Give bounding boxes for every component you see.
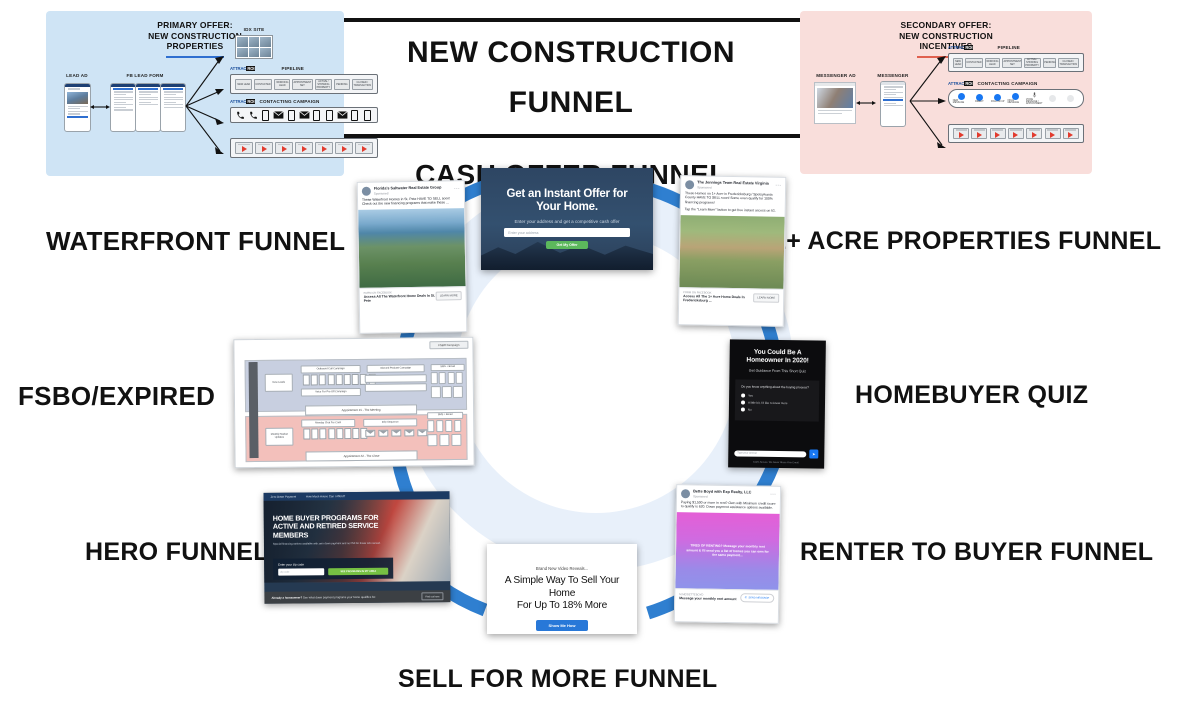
quiz-question-card: Do you know anything about the buying pr… [735,379,820,421]
primary-lead-ad-group: LEAD AD [55,73,99,78]
sms-step [362,110,373,120]
envelope-icon [299,111,310,119]
sell-headline-line2: For Up To 18% More [517,600,607,611]
pipeline-stage: NEW LEAD [235,79,252,90]
secondary-offer-title-line2: NEW CONSTRUCTION [800,31,1092,42]
hero-cta-button[interactable]: SEE PROGRAMS IN MY AREA [328,568,388,576]
retargeting-video-ad [971,128,987,139]
hero-zip-form: Enter your zip code Zip code SEE PROGRAM… [273,558,393,580]
retargeting-video-ad [1045,128,1061,139]
play-icon [322,146,327,152]
sms-step [286,110,297,120]
renter-ad-image: TIRED OF RENTING? Message your monthly r… [675,512,779,590]
primary-contacting-header: ATTRACROI CONTACTING CAMPAIGN [230,99,378,104]
primary-retargeting-box [230,138,378,158]
fsbo-minigrid-bottom-1 [427,420,461,432]
fsbo-minigrid-top-2 [431,386,463,398]
fb-lead-form-phone-2 [135,83,161,132]
retargeting-video-ad [953,128,969,139]
messenger-step: NEW MESSAGE [953,92,970,105]
call-step [248,110,259,120]
avatar [362,187,371,196]
retargeting-video-ad [255,142,273,154]
attrac-roi-logo-contacting-2: ATTRACROI [948,81,973,86]
mountain-graphic [481,232,653,270]
sell-cta-button[interactable]: Show Me How [536,620,588,631]
hero-footer-bar: Already a homeowner? See what down payme… [264,590,450,604]
pipeline-stage: PENDING [334,79,351,90]
fb-page-identity: Florida's Saltwater Real Estate Group Sp… [374,186,454,196]
secondary-pipeline-header: ATTRACROI PIPELINE [948,45,1084,50]
retargeting-video-ad [1008,128,1024,139]
retargeting-video-ad [295,142,313,154]
cash-offer-subhead: Enter your address and get a competitive… [481,219,653,224]
quiz-subhead: Get Guidance From This Short Quiz [729,368,825,373]
pipeline-stage: ACTIVE / SHOWING PROPERTY [1024,58,1040,68]
banner-rule-top [341,18,801,22]
hero-form-label: Enter your zip code [278,562,388,567]
placeholder-step [1044,92,1061,105]
pipeline-stage: APPOINTMENT SET [1002,58,1023,68]
primary-offer-panel: PRIMARY OFFER: NEW CONSTRUCTION PROPERTI… [46,11,344,176]
card-sell-for-more-landing[interactable]: Brand New Video Reveals... A Simple Way … [487,544,637,634]
fb-page-identity: The Jennings Team Real Estate Virginia S… [697,181,775,191]
sms-step [311,110,322,120]
fb-ad-meta: Sponsored [693,494,770,499]
send-icon[interactable]: ➤ [809,449,818,458]
retargeting-video-ad [990,128,1006,139]
play-icon [977,132,982,138]
fsbo-envelope-row [365,429,427,437]
fb-link-title: Access All The Waterfront Home Deals In … [364,293,436,303]
pipeline-stage: CLOSED / TRANSACTION [1058,58,1079,68]
label-fsbo-expired: FSBO/EXPIRED [18,381,215,412]
pipeline-label-2: PIPELINE [997,45,1020,50]
fsbo-group-drip: Drip Sequence [363,418,417,427]
messenger-icon [976,94,983,101]
fsbo-campaign-tab[interactable]: FSBO Campaign [429,341,468,349]
sell-headline-line1: A Simple Way To Sell Your Home [505,575,619,599]
messenger-phone-mock [880,81,906,127]
card-renter-to-buyer-ad[interactable]: Bette Boyd with Exp Realty, LLC Sponsore… [674,484,781,624]
banner-rule-bottom [341,134,801,138]
primary-contacting-box [230,107,378,123]
attrac-roi-logo-pipeline-2: ATTRACROI [948,45,973,50]
fsbo-appointment-2: Appointment #2 - The Close [306,450,418,461]
phone-icon [236,111,245,120]
messenger-step: FOLLOW UP [989,92,1006,105]
sms-step [349,110,360,120]
pipeline-stage: ACTIVE / SHOWING PROPERTY [315,79,332,90]
idx-site-label: IDX SITE [228,27,280,32]
acre-learn-more-button[interactable]: LEARN MORE [753,293,779,302]
more-options-icon[interactable]: ··· [770,493,776,498]
primary-fan-arrows [184,51,226,161]
label-waterfront-funnel: WATERFRONT FUNNEL [46,226,345,257]
radio-icon [741,393,745,397]
secondary-fan-arrows [908,49,948,157]
hero-footer-text: Already a homeowner? See what down payme… [271,594,421,599]
email-step [273,110,284,120]
funnel-map-canvas: NEW CONSTRUCTION FUNNEL CASH OFFER FUNNE… [0,0,1200,718]
card-acre-properties-ad[interactable]: The Jennings Team Real Estate Virginia S… [678,175,787,327]
cash-offer-headline: Get an Instant Offer for Your Home. [481,168,653,214]
label-acre-properties-funnel: 1+ ACRE PROPERTIES FUNNEL [772,227,1161,256]
quiz-option[interactable]: Yes [741,393,813,398]
arrow-ad-to-messenger [856,99,876,107]
retargeting-video-ad [315,142,333,154]
cash-offer-address-input[interactable]: Enter your address [504,228,630,237]
secondary-contacting-header: ATTRACROI CONTACTING CAMPAIGN [948,81,1084,86]
card-hero-funnel-landing[interactable]: Zero Down Payment How Much House Can I A… [264,491,451,604]
label-renter-to-buyer-funnel: RENTER TO BUYER FUNNEL [800,538,1153,567]
fb-ad-footer: FORM ON FACEBOOK Access All The Waterfro… [360,286,466,306]
primary-fb-lead-form-group: FB LEAD FORM [108,73,182,78]
pipeline-stage: NEW LEAD [953,58,963,68]
pipeline-stage: CLOSED / TRANSACTION [352,79,373,90]
play-icon [362,146,367,152]
play-icon [282,146,287,152]
card-cash-offer-landing[interactable]: Get an Instant Offer for Your Home. Ente… [481,168,653,270]
contacting-campaign-label-2: CONTACTING CAMPAIGN [977,81,1037,86]
fb-lead-form-label: FB LEAD FORM [108,73,182,78]
email-step [337,110,348,120]
more-options-icon[interactable]: ··· [454,187,460,192]
hero-headline: HOME BUYER PROGRAMS FOR ACTIVE AND RETIR… [273,514,393,540]
fb-ad-footer: M.ME/BETTEBOYD Message your monthly rent… [675,588,778,606]
secondary-pipeline-box: NEW LEAD CONTACTED WORKING LEAD APPOINTM… [948,53,1084,72]
phone-icon [249,111,258,120]
lead-ad-phone-mock [64,83,91,132]
play-icon [1032,132,1037,138]
quiz-option[interactable]: No [741,407,813,412]
play-icon [959,132,964,138]
contacting-campaign-label: CONTACTING CAMPAIGN [259,99,319,104]
messenger-icon [1012,93,1019,100]
envelope-icon [337,111,348,119]
fb-link-title: Message your monthly rent amount [679,596,740,601]
fb-lead-form-phone-3 [160,83,186,132]
acre-ad-image [679,215,784,289]
fb-link-title: Access All The 1+ Acre Home Deals In Fre… [683,294,753,304]
fsbo-minigrid-top-1 [431,372,463,384]
fb-link-preview: FORM ON FACEBOOK Access All The 1+ Acre … [683,291,753,304]
sell-headline: A Simple Way To Sell Your HomeFor Up To … [497,575,627,613]
play-icon [1013,132,1018,138]
fsbo-appointment-1: Appointment #1 - The Meeting [305,404,417,415]
hero-footer-button[interactable]: Find out here [421,592,443,600]
pipeline-label: PIPELINE [281,66,304,71]
pipeline-stage: PENDING [1043,58,1057,68]
fb-link-preview: FORM ON FACEBOOK Access All The Waterfro… [364,290,436,303]
quiz-answer-row: Type your answer ➤ [734,448,818,458]
sms-step [260,110,271,120]
hero-zip-input[interactable]: Zip code [278,568,324,575]
play-icon [1050,132,1055,138]
hero-nav-item[interactable]: Zero Down Payment [271,495,297,499]
secondary-offer-title-line1: SECONDARY OFFER: [800,20,1092,31]
fb-page-identity: Bette Boyd with Exp Realty, LLC Sponsore… [693,490,770,500]
retargeting-video-ad [355,142,373,154]
retargeting-video-ad [335,142,353,154]
play-icon [995,132,1000,138]
voice-step: VOICE MESSAGE / APPOINTMENT [1026,92,1043,105]
retargeting-video-ad [235,142,253,154]
primary-offer-title-line3: PROPERTIES [46,41,344,52]
messenger-step: DIRECT [971,92,988,105]
fsbo-minigrid-bottom-2 [427,434,461,446]
waterfront-learn-more-button[interactable]: LEARN MORE [436,291,462,300]
fsbo-group-sms-email-top: SMS + Email [431,364,465,371]
hero-form-row: Zip code SEE PROGRAMS IN MY AREA [278,568,388,576]
messenger-icon: ✆ [745,596,747,599]
sms-step [324,110,335,120]
fsbo-group-monday-chat: Monday Chat For Cash [301,419,355,428]
fsbo-inbound-row-1 [365,374,427,383]
card-fsbo-expired-workflow[interactable]: FSBO Campaign New Leads Outbound Call Ca… [233,337,474,469]
attrac-roi-logo-contacting: ATTRACROI [230,99,255,104]
messenger-ad-label: MESSENGER AD [804,73,868,78]
fsbo-side-rail [249,362,259,458]
primary-offer-title-line2: NEW CONSTRUCTION [46,31,344,42]
fsbo-node-new-leads: New Leads [265,374,293,392]
fsbo-sub-voicemail: Voice For Pre-Off Campaign [301,388,361,397]
messenger-icon [958,93,965,100]
retargeting-video-ad [1026,128,1042,139]
pipeline-stage: APPOINTMENT SET [292,79,313,90]
cash-offer-cta-button[interactable]: Get My Offer [546,241,587,249]
pipeline-stage: WORKING LEAD [985,58,1000,68]
call-step [235,110,246,120]
renter-send-message-button[interactable]: ✆SEND MESSAGE [740,593,775,603]
play-icon [242,146,247,152]
placeholder-step [1062,92,1079,105]
messenger-icon [994,94,1001,101]
hero-footer-strong: Already a homeowner? [271,595,302,599]
primary-pipeline-box: NEW LEAD CONTACTED WORKING LEAD APPOINTM… [230,74,378,94]
hero-nav-item[interactable]: How Much House Can I Afford? [306,494,345,498]
fsbo-node-monthly-updates: Monthly Market Updates [265,428,293,446]
messenger-ad-group: MESSENGER AD [804,73,868,78]
quiz-question: Do you know anything about the buying pr… [741,385,813,390]
retargeting-video-ad [1063,128,1079,139]
primary-offer-title-line1: PRIMARY OFFER: [46,20,344,31]
quiz-answer-input[interactable]: Type your answer [734,450,806,457]
radio-icon [741,407,745,411]
envelope-icon [273,111,284,119]
hero-copy: HOME BUYER PROGRAMS FOR ACTIVE AND RETIR… [273,514,393,547]
idx-site-group: IDX SITE [228,27,280,32]
lead-ad-label: LEAD AD [55,73,99,78]
banner-titles: NEW CONSTRUCTION FUNNEL CASH OFFER FUNNE… [341,18,801,166]
fb-lead-form-phone-1 [110,83,136,132]
messenger-ad-mock [814,82,856,124]
primary-pipeline-header: ATTRACROI PIPELINE [230,66,378,71]
fb-ad-meta: Sponsored [374,190,454,195]
play-icon [302,146,307,152]
quiz-footer-note: 100% Secure. We Never Share Your Email. [734,460,818,464]
secondary-offer-panel: SECONDARY OFFER: NEW CONSTRUCTION INCENT… [800,11,1092,174]
secondary-retargeting-box [948,124,1084,143]
fb-link-preview: M.ME/BETTEBOYD Message your monthly rent… [679,593,740,601]
pipeline-stage: WORKING LEAD [274,79,291,90]
email-step [298,110,309,120]
microphone-icon [1032,92,1037,98]
card-homebuyer-quiz[interactable]: You Could Be A Homeowner In 2020! Get Gu… [728,339,826,468]
arrow-lead-to-form [90,103,110,111]
waterfront-ad-image [358,208,465,288]
fsbo-seq-monday [303,428,367,440]
retargeting-video-ad [275,142,293,154]
more-options-icon[interactable]: ··· [775,184,781,189]
sell-kicker: Brand New Video Reveals... [487,566,637,571]
secondary-contacting-box: NEW MESSAGE DIRECT FOLLOW UP FINAL MESSA… [948,89,1084,108]
fsbo-group-inbound: Inbound Podcast Campaign [367,364,425,373]
card-waterfront-ad[interactable]: Florida's Saltwater Real Estate Group Sp… [357,180,468,334]
play-icon [1068,132,1073,138]
quiz-option[interactable]: A little bit, I'd like to know more [741,400,813,405]
messenger-step: FINAL MESSAGE [1008,92,1025,105]
fsbo-inbound-row-2 [365,383,427,392]
renter-ad-overlay-text: TIRED OF RENTING? Message your monthly r… [676,543,779,558]
play-icon [342,146,347,152]
label-homebuyer-quiz: HOMEBUYER QUIZ [855,381,1088,410]
fsbo-group-outbound: Outbound Call Campaign [301,365,361,374]
radio-icon [741,400,745,404]
idx-site-thumbnail [235,35,273,59]
fb-ad-body: These Homes on 1+ Acre in Fredericksburg… [681,191,785,209]
attrac-roi-logo-pipeline: ATTRACROI [230,66,255,71]
label-hero-funnel: HERO FUNNEL [85,538,269,567]
fb-ad-footer: FORM ON FACEBOOK Access All The 1+ Acre … [679,287,783,307]
quiz-headline: You Could Be A Homeowner In 2020! [730,339,826,365]
fb-ad-header: Bette Boyd with Exp Realty, LLC Sponsore… [677,485,780,502]
new-construction-funnel-title: NEW CONSTRUCTION FUNNEL [341,28,801,128]
avatar [681,489,690,498]
play-icon [262,146,267,152]
fsbo-group-sms-email-bottom: SMS + Email [427,412,463,419]
label-sell-for-more-funnel: SELL FOR MORE FUNNEL [398,665,717,694]
pipeline-stage: CONTACTED [254,79,272,90]
pipeline-stage: CONTACTED [965,58,983,68]
avatar [685,180,694,189]
quiz-footer: Type your answer ➤ 100% Secure. We Never… [728,443,824,468]
